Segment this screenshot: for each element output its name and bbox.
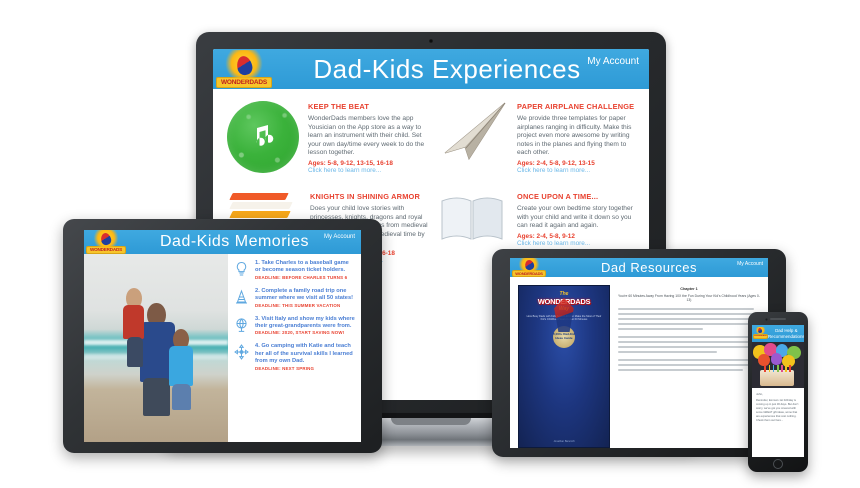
phone-camera-icon: [765, 318, 768, 321]
list-item[interactable]: 2. Complete a family road trip one summe…: [232, 288, 355, 309]
superhero-icon: [100, 232, 112, 246]
message-body: Reminder, Emma's 1st birthday is coming …: [756, 399, 800, 423]
laptop-trackpad-notch: [391, 418, 471, 425]
chapter-number: Chapter 1: [618, 287, 760, 292]
memories-content: 1. Take Charles to a baseball game or be…: [84, 254, 361, 442]
card-body: Create your own bedtime story together w…: [517, 205, 637, 231]
laptop-webcam-icon: [429, 39, 433, 43]
card-ages: Ages: 5-8, 9-12, 13-15, 16-18: [308, 160, 428, 167]
card-heading: ONCE UPON A TIME...: [517, 192, 637, 201]
phone-home-button[interactable]: [773, 459, 783, 469]
phone-app-header: WONDERDADS Dad Help & Recommendations: [752, 325, 804, 342]
memory-text: 4. Go camping with Katie and teach her a…: [255, 343, 355, 371]
book-author: Jonathan Bancroft: [553, 440, 574, 443]
learn-more-link[interactable]: Click here to learn more...: [308, 167, 428, 174]
music-note-icon: [225, 101, 301, 177]
card-heading: KEEP THE BEAT: [308, 102, 428, 111]
memory-title: 2. Complete a family road trip one summe…: [255, 288, 355, 303]
list-item[interactable]: 4. Go camping with Katie and teach her a…: [232, 343, 355, 371]
logo-wordmark: WONDERDADS: [753, 334, 768, 339]
tablet-resources-bezel: WONDERDADS Dad Resources My Account The …: [492, 249, 786, 457]
family-beach-photo: [84, 254, 228, 442]
memory-text: 3. Visit Italy and show my kids where th…: [255, 316, 355, 337]
memory-deadline: DEADLINE: NEXT SPRING: [255, 366, 355, 372]
tablet-memories-screen: WONDERDADS Dad-Kids Memories My Account: [84, 230, 361, 442]
memory-title: 3. Visit Italy and show my kids where th…: [255, 316, 355, 331]
experience-card[interactable]: KEEP THE BEAT WonderDads members love th…: [225, 101, 428, 177]
phone-message: John, Reminder, Emma's 1st birthday is c…: [752, 388, 804, 423]
memories-app-header: WONDERDADS Dad-Kids Memories My Account: [84, 230, 361, 254]
my-account-link[interactable]: My Account: [587, 56, 639, 67]
card-heading: PAPER AIRPLANE CHALLENGE: [517, 102, 637, 111]
phone-speaker-icon: [770, 318, 786, 320]
phone-bezel: WONDERDADS Dad Help & Recommendations: [748, 312, 808, 472]
globe-icon: [232, 316, 250, 334]
resources-app-header: WONDERDADS Dad Resources My Account: [510, 258, 768, 277]
starburst-icon: [224, 50, 264, 80]
book-cover[interactable]: The WONDERDADS Way How Busy Dads with Ki…: [518, 285, 610, 448]
learn-more-link[interactable]: Click here to learn more...: [517, 167, 637, 174]
wonderdads-logo[interactable]: WONDERDADS: [752, 327, 768, 340]
memory-title: 1. Take Charles to a baseball game or be…: [255, 260, 355, 275]
phone-screen: WONDERDADS Dad Help & Recommendations: [752, 325, 804, 457]
memory-deadline: DEADLINE: BEFORE CHARLES TURNS 6: [255, 275, 355, 281]
memory-deadline: DEADLINE: THIS SUMMER VACATION: [255, 303, 355, 309]
experience-card[interactable]: PAPER AIRPLANE CHALLENGE We provide thre…: [434, 101, 637, 177]
paper-airplane-icon: [434, 101, 510, 177]
chapter-title: You're 60 Minutes Away From Having 10X t…: [618, 294, 760, 303]
experience-text: KEEP THE BEAT WonderDads members love th…: [308, 101, 428, 177]
memories-list: 1. Take Charles to a baseball game or be…: [228, 254, 361, 442]
my-account-link[interactable]: My Account: [324, 234, 355, 240]
page-title: Dad Resources: [548, 258, 768, 277]
chapter-body-placeholder: [618, 308, 760, 371]
tablet-resources-device: WONDERDADS Dad Resources My Account The …: [492, 249, 786, 457]
card-ages: Ages: 2-4, 5-8, 9-12, 13-15: [517, 160, 637, 167]
product-mockup-scene: WONDERDADS Dad-Kids Experiences My Accou…: [0, 0, 860, 488]
card-body: WonderDads members love the app Yousicia…: [308, 115, 428, 158]
starburst-icon: [755, 327, 766, 334]
starburst-icon: [517, 258, 541, 272]
list-item[interactable]: 3. Visit Italy and show my kids where th…: [232, 316, 355, 337]
lightbulb-icon: [232, 260, 250, 278]
message-greeting: John,: [756, 392, 800, 396]
resources-content: The WONDERDADS Way How Busy Dads with Ki…: [510, 277, 768, 448]
tablet-resources-screen: WONDERDADS Dad Resources My Account The …: [510, 258, 768, 448]
compass-arrows-icon: [232, 343, 250, 361]
memory-text: 1. Take Charles to a baseball game or be…: [255, 260, 355, 281]
experience-text: PAPER AIRPLANE CHALLENGE We provide thre…: [517, 101, 637, 177]
superhero-icon: [524, 259, 535, 271]
memory-text: 2. Complete a family road trip one summe…: [255, 288, 355, 309]
page-title: Dad-Kids Experiences: [275, 49, 649, 89]
memory-deadline: DEADLINE: 2020, START SAVING NOW!: [255, 330, 355, 336]
my-account-link[interactable]: My Account: [737, 261, 763, 267]
tablet-memories-bezel: WONDERDADS Dad-Kids Memories My Account: [63, 219, 382, 453]
wonderdads-logo[interactable]: WONDERDADS: [84, 230, 128, 254]
superhero-icon: [235, 54, 254, 76]
memory-title: 4. Go camping with Katie and teach her a…: [255, 343, 355, 365]
birthday-cake-icon: [760, 370, 793, 386]
experience-row-1: KEEP THE BEAT WonderDads members love th…: [225, 101, 637, 177]
laptop-app-header: WONDERDADS Dad-Kids Experiences My Accou…: [213, 49, 649, 89]
birthday-photo: [752, 342, 804, 388]
chapter-heading: Chapter 1 You're 60 Minutes Away From Ha…: [618, 287, 760, 303]
phone-device: WONDERDADS Dad Help & Recommendations: [748, 312, 808, 472]
learn-more-link[interactable]: Click here to learn more...: [517, 240, 637, 247]
wonderdads-logo[interactable]: WONDERDADS: [213, 49, 275, 89]
card-body: We provide three templates for paper air…: [517, 115, 637, 158]
starburst-icon: [92, 230, 120, 248]
tablet-memories-device: WONDERDADS Dad-Kids Memories My Account: [63, 219, 382, 453]
wonderdads-logo[interactable]: WONDERDADS: [510, 258, 548, 277]
superhero-icon: [758, 328, 763, 334]
page-title: Dad Help & Recommendations: [768, 328, 804, 339]
list-item[interactable]: 1. Take Charles to a baseball game or be…: [232, 260, 355, 281]
traffic-cone-icon: [232, 288, 250, 306]
card-ages: Ages: 2-4, 5-8, 9-12: [517, 233, 637, 240]
card-heading: KNIGHTS IN SHINING ARMOR: [310, 192, 428, 201]
chapter-pane: Chapter 1 You're 60 Minutes Away From Ha…: [618, 285, 760, 448]
